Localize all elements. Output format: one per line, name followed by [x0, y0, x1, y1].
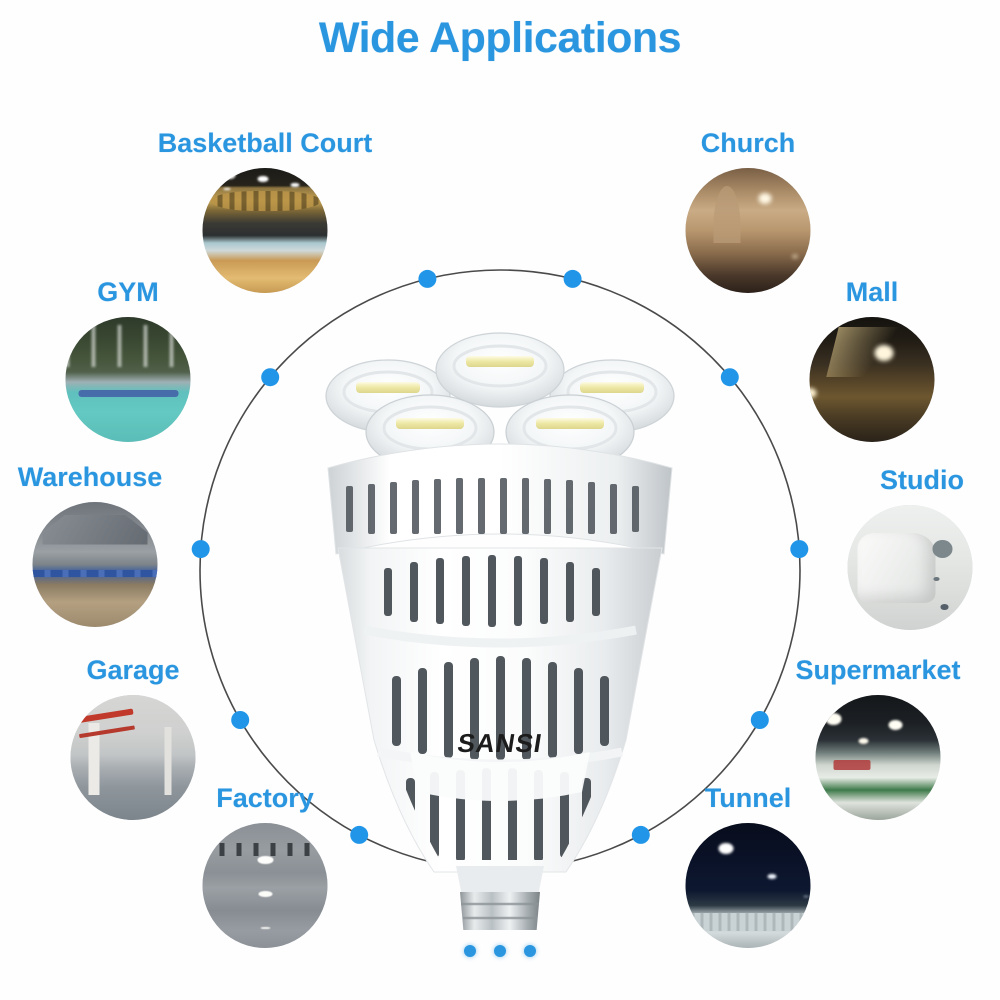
application-thumbnail-factory[interactable] — [203, 823, 328, 948]
application-label-supermarket: Supermarket — [795, 655, 960, 686]
application-thumbnail-mall[interactable] — [810, 317, 935, 442]
application-label-warehouse: Warehouse — [18, 462, 163, 493]
application-label-church: Church — [701, 128, 796, 159]
thumbnail-image-supermarket — [816, 695, 941, 820]
application-label-tunnel: Tunnel — [705, 783, 791, 814]
application-label-gym: GYM — [97, 277, 159, 308]
infographic-canvas: Wide Applications — [0, 0, 1000, 1000]
thumbnail-image-gym — [66, 317, 191, 442]
ring-connector-dot — [192, 540, 210, 558]
application-thumbnail-tunnel[interactable] — [686, 823, 811, 948]
footer-dot — [494, 945, 506, 957]
ring-connector-dot — [564, 270, 582, 288]
application-thumbnail-garage[interactable] — [71, 695, 196, 820]
thumbnail-image-warehouse — [33, 502, 158, 627]
ring-connector-dot — [231, 711, 249, 729]
product-bulb: SANSI — [260, 300, 740, 930]
footer-dot — [464, 945, 476, 957]
application-thumbnail-gym[interactable] — [66, 317, 191, 442]
application-thumbnail-studio[interactable] — [848, 505, 973, 630]
thumbnail-image-tunnel — [686, 823, 811, 948]
thumbnail-image-garage — [71, 695, 196, 820]
ring-connector-dot — [418, 270, 436, 288]
application-thumbnail-supermarket[interactable] — [816, 695, 941, 820]
thumbnail-image-basketball-court — [203, 168, 328, 293]
application-label-studio: Studio — [880, 465, 964, 496]
ring-connector-dot — [751, 711, 769, 729]
application-label-basketball-court: Basketball Court — [158, 128, 373, 159]
application-thumbnail-church[interactable] — [686, 168, 811, 293]
thumbnail-image-mall — [810, 317, 935, 442]
application-label-factory: Factory — [216, 783, 314, 814]
thumbnail-image-factory — [203, 823, 328, 948]
application-thumbnail-basketball-court[interactable] — [203, 168, 328, 293]
application-thumbnail-warehouse[interactable] — [33, 502, 158, 627]
thumbnail-image-church — [686, 168, 811, 293]
ring-connector-dot — [790, 540, 808, 558]
footer-dot — [524, 945, 536, 957]
footer-dots — [0, 944, 1000, 962]
thumbnail-image-studio — [848, 505, 973, 630]
brand-logo: SANSI — [455, 728, 544, 759]
application-label-garage: Garage — [86, 655, 179, 686]
application-label-mall: Mall — [846, 277, 899, 308]
